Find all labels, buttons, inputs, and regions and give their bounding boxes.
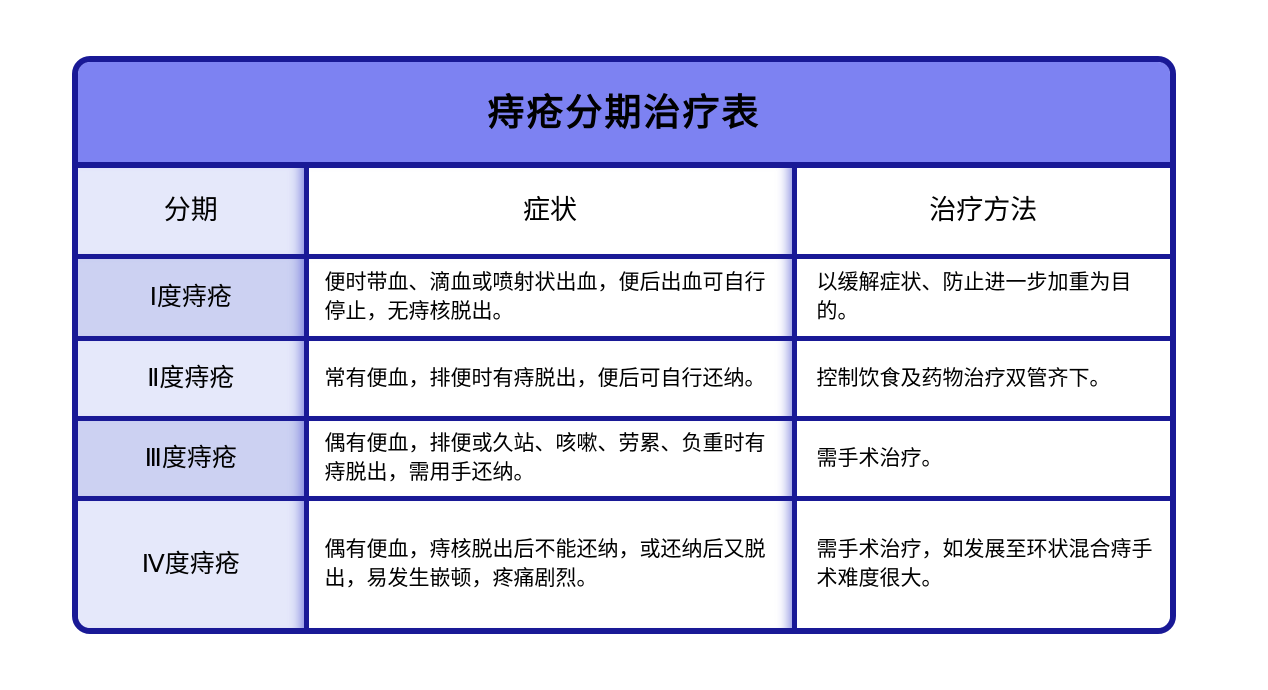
cell-treatment-3: 需手术治疗。: [794, 418, 1170, 498]
stage-label-4: Ⅳ度痔疮: [78, 550, 304, 579]
symptom-text-3: 偶有便血，排便或久站、咳嗽、劳累、负重时有痔脱出，需用手还纳。: [309, 425, 792, 491]
cell-stage-3: Ⅲ度痔疮: [78, 418, 306, 498]
header-cell-stage: 分期: [78, 168, 306, 256]
stage-treatment-table: 分期 症状 治疗方法 Ⅰ度痔疮 便时带血、滴血或喷射状出血，便后出血可自行停止，…: [78, 168, 1170, 628]
header-label-stage: 分期: [78, 196, 304, 226]
hemorrhoid-stage-table-card: 痔疮分期治疗表 分期 症状 治疗方法: [72, 56, 1176, 634]
table-row: Ⅳ度痔疮 偶有便血，痔核脱出后不能还纳，或还纳后又脱出，易发生嵌顿，疼痛剧烈。 …: [78, 498, 1170, 628]
cell-stage-2: Ⅱ度痔疮: [78, 338, 306, 418]
treatment-text-4: 需手术治疗，如发展至环状混合痔手术难度很大。: [797, 531, 1171, 597]
cell-symptom-2: 常有便血，排便时有痔脱出，便后可自行还纳。: [306, 338, 794, 418]
cell-treatment-2: 控制饮食及药物治疗双管齐下。: [794, 338, 1170, 418]
page-canvas: 痔疮分期治疗表 分期 症状 治疗方法: [0, 0, 1268, 690]
header-cell-treatment: 治疗方法: [794, 168, 1170, 256]
table-row: Ⅰ度痔疮 便时带血、滴血或喷射状出血，便后出血可自行停止，无痔核脱出。 以缓解症…: [78, 256, 1170, 338]
symptom-text-1: 便时带血、滴血或喷射状出血，便后出血可自行停止，无痔核脱出。: [309, 264, 792, 330]
symptom-text-2: 常有便血，排便时有痔脱出，便后可自行还纳。: [309, 360, 792, 397]
symptom-text-4: 偶有便血，痔核脱出后不能还纳，或还纳后又脱出，易发生嵌顿，疼痛剧烈。: [309, 531, 792, 597]
treatment-text-3: 需手术治疗。: [797, 440, 1171, 477]
cell-symptom-1: 便时带血、滴血或喷射状出血，便后出血可自行停止，无痔核脱出。: [306, 256, 794, 338]
cell-treatment-4: 需手术治疗，如发展至环状混合痔手术难度很大。: [794, 498, 1170, 628]
stage-label-2: Ⅱ度痔疮: [78, 364, 304, 393]
page-title: 痔疮分期治疗表: [488, 94, 761, 131]
table-row: Ⅲ度痔疮 偶有便血，排便或久站、咳嗽、劳累、负重时有痔脱出，需用手还纳。 需手术…: [78, 418, 1170, 498]
cell-symptom-4: 偶有便血，痔核脱出后不能还纳，或还纳后又脱出，易发生嵌顿，疼痛剧烈。: [306, 498, 794, 628]
cell-stage-1: Ⅰ度痔疮: [78, 256, 306, 338]
treatment-text-1: 以缓解症状、防止进一步加重为目的。: [797, 264, 1171, 330]
table-header-row: 分期 症状 治疗方法: [78, 168, 1170, 256]
table-title-bar: 痔疮分期治疗表: [78, 62, 1170, 168]
cell-stage-4: Ⅳ度痔疮: [78, 498, 306, 628]
table-row: Ⅱ度痔疮 常有便血，排便时有痔脱出，便后可自行还纳。 控制饮食及药物治疗双管齐下…: [78, 338, 1170, 418]
header-label-symptom: 症状: [309, 196, 792, 226]
stage-label-1: Ⅰ度痔疮: [78, 283, 304, 312]
cell-symptom-3: 偶有便血，排便或久站、咳嗽、劳累、负重时有痔脱出，需用手还纳。: [306, 418, 794, 498]
header-cell-symptom: 症状: [306, 168, 794, 256]
cell-treatment-1: 以缓解症状、防止进一步加重为目的。: [794, 256, 1170, 338]
header-label-treatment: 治疗方法: [797, 196, 1171, 226]
treatment-text-2: 控制饮食及药物治疗双管齐下。: [797, 360, 1171, 397]
stage-label-3: Ⅲ度痔疮: [78, 444, 304, 473]
